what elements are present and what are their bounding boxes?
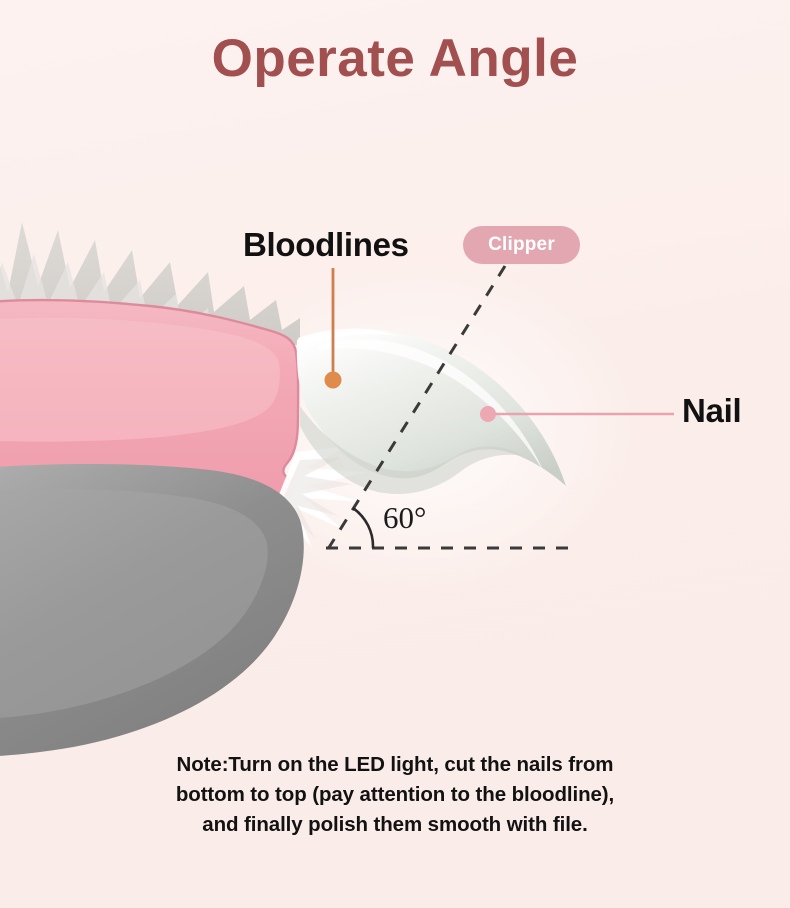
note-line-2: bottom to top (pay attention to the bloo… bbox=[0, 780, 790, 810]
note-block: Note:Turn on the LED light, cut the nail… bbox=[0, 750, 790, 840]
label-nail: Nail bbox=[682, 392, 741, 430]
operate-angle-infographic: Operate Angle bbox=[0, 0, 790, 908]
note-line-3: and finally polish them smooth with file… bbox=[0, 810, 790, 840]
toe-highlight bbox=[0, 318, 280, 442]
label-angle-60: 60° bbox=[383, 500, 426, 536]
pad-highlight bbox=[0, 489, 268, 720]
label-bloodlines: Bloodlines bbox=[243, 226, 409, 264]
note-line-1: Note:Turn on the LED light, cut the nail… bbox=[0, 750, 790, 780]
bloodlines-leader-dot bbox=[325, 372, 342, 389]
badge-clipper: Clipper bbox=[463, 226, 580, 264]
nail-leader-dot bbox=[480, 406, 496, 422]
